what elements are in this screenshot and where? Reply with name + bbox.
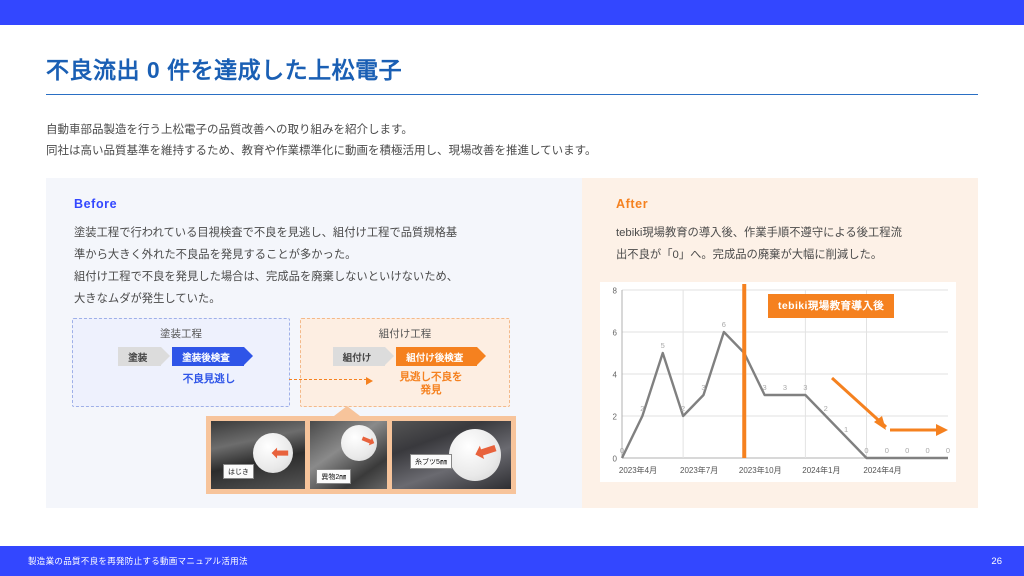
svg-text:1: 1: [844, 425, 848, 434]
flow-assembly-note-line-2: 発見: [363, 384, 499, 397]
flow-step-assembly: 組付け: [333, 347, 386, 366]
svg-text:6: 6: [722, 320, 726, 329]
flow-paint-process: 塗装工程 塗装 塗装後検査 不良見逃し: [72, 318, 290, 407]
svg-text:8: 8: [613, 287, 618, 296]
svg-text:2023年4月: 2023年4月: [619, 465, 657, 475]
svg-text:6: 6: [613, 329, 618, 338]
after-panel: After tebiki現場教育の導入後、作業手順不遵守による後工程流 出不良が…: [582, 178, 978, 508]
flow-assembly-steps: 組付け 組付け後検査: [311, 347, 499, 366]
svg-text:0: 0: [620, 446, 624, 455]
footer-bar: 製造業の品質不良を再発防止する動画マニュアル活用法 26: [0, 546, 1024, 576]
before-line-2: 準から大きく外れた不良品を発見することが多かった。: [74, 244, 556, 266]
before-panel: Before 塗装工程で行われている目視検査で不良を見逃し、組付け工程で品質規格…: [46, 178, 582, 508]
svg-text:5: 5: [661, 341, 665, 350]
defect-photo-1: ⬅ はじき: [211, 421, 305, 489]
svg-text:0: 0: [905, 446, 909, 455]
svg-text:0: 0: [864, 446, 868, 455]
defect-photo-strip: ⬅ はじき ➡ 異物2㎜ ⬅ 糸ブツ5㎜: [206, 416, 516, 494]
flow-paint-steps: 塗装 塗装後検査: [83, 347, 279, 366]
svg-text:0: 0: [885, 446, 889, 455]
svg-text:2: 2: [613, 413, 618, 422]
flow-paint-heading: 塗装工程: [83, 326, 279, 341]
after-description: tebiki現場教育の導入後、作業手順不遵守による後工程流 出不良が「0」へ。完…: [616, 222, 960, 266]
lead-line-1: 自動車部品製造を行う上松電子の品質改善への取り組みを紹介します。: [46, 120, 946, 141]
defect-photo-1-caption: はじき: [223, 464, 254, 479]
chart-annotation-badge: tebiki現場教育導入後: [768, 294, 894, 318]
defect-photo-2: ➡ 異物2㎜: [310, 421, 387, 489]
before-line-1: 塗装工程で行われている目視検査で不良を見逃し、組付け工程で品質規格基: [74, 222, 556, 244]
footer-title: 製造業の品質不良を再発防止する動画マニュアル活用法: [28, 555, 248, 567]
process-flow-diagram: 塗装工程 塗装 塗装後検査 不良見逃し 組付け工程: [72, 318, 510, 407]
svg-text:4: 4: [613, 371, 618, 380]
svg-text:3: 3: [783, 383, 787, 392]
before-description: 塗装工程で行われている目視検査で不良を見逃し、組付け工程で品質規格基 準から大き…: [74, 222, 556, 310]
flow-assembly-process: 組付け工程 組付け 組付け後検査 見逃し不良を 発見: [300, 318, 510, 407]
pointer-arrow-icon: ⬅: [271, 442, 289, 464]
svg-text:2023年7月: 2023年7月: [680, 465, 718, 475]
svg-text:3: 3: [803, 383, 807, 392]
svg-text:3: 3: [763, 383, 767, 392]
title-divider: [46, 94, 978, 96]
flow-step-paint: 塗装: [118, 347, 161, 366]
flow-paint-note: 不良見逃し: [83, 371, 279, 386]
svg-text:2024年1月: 2024年1月: [802, 465, 840, 475]
lead-paragraph: 自動車部品製造を行う上松電子の品質改善への取り組みを紹介します。 同社は高い品質…: [46, 120, 946, 163]
svg-text:0: 0: [946, 446, 950, 455]
footer-page-number: 26: [991, 556, 1002, 567]
dashed-arrow-icon: [289, 379, 367, 380]
svg-text:2: 2: [824, 404, 828, 413]
defect-photo-3-caption: 糸ブツ5㎜: [410, 454, 452, 469]
svg-text:0: 0: [613, 455, 618, 464]
after-line-1: tebiki現場教育の導入後、作業手順不遵守による後工程流: [616, 222, 960, 244]
before-line-3: 組付け工程で不良を発見した場合は、完成品を廃棄しないといけないため、: [74, 266, 556, 288]
flow-assembly-note-line-1: 見逃し不良を: [363, 371, 499, 384]
flow-step-paint-inspection: 塗装後検査: [172, 347, 244, 366]
flow-step-assembly-inspection: 組付け後検査: [396, 347, 477, 366]
flow-assembly-note: 見逃し不良を 発見: [311, 371, 499, 397]
svg-text:2023年10月: 2023年10月: [739, 465, 782, 475]
headline-block: 不良流出 0 件を達成した上松電子: [46, 56, 978, 95]
svg-text:2: 2: [640, 404, 644, 413]
flow-assembly-heading: 組付け工程: [311, 326, 499, 341]
svg-text:2024年4月: 2024年4月: [863, 465, 901, 475]
svg-text:2: 2: [681, 404, 685, 413]
before-label: Before: [74, 197, 117, 211]
after-line-2: 出不良が「0」へ。完成品の廃棄が大幅に削減した。: [616, 244, 960, 266]
comparison-panels: Before 塗装工程で行われている目視検査で不良を見逃し、組付け工程で品質規格…: [46, 178, 978, 508]
svg-text:3: 3: [701, 383, 705, 392]
defect-photo-2-caption: 異物2㎜: [316, 469, 351, 484]
before-line-4: 大きなムダが発生していた。: [74, 288, 556, 310]
page-title: 不良流出 0 件を達成した上松電子: [46, 56, 978, 86]
svg-text:0: 0: [926, 446, 930, 455]
slide: 不良流出 0 件を達成した上松電子 自動車部品製造を行う上松電子の品質改善への取…: [0, 0, 1024, 576]
defect-trend-chart: 024682023年4月2023年7月2023年10月2024年1月2024年4…: [600, 282, 956, 482]
after-label: After: [616, 197, 648, 211]
lead-line-2: 同社は高い品質基準を維持するため、教育や作業標準化に動画を積極活用し、現場改善を…: [46, 141, 946, 162]
defect-photo-3: ⬅ 糸ブツ5㎜: [392, 421, 511, 489]
top-accent-bar: [0, 0, 1024, 25]
